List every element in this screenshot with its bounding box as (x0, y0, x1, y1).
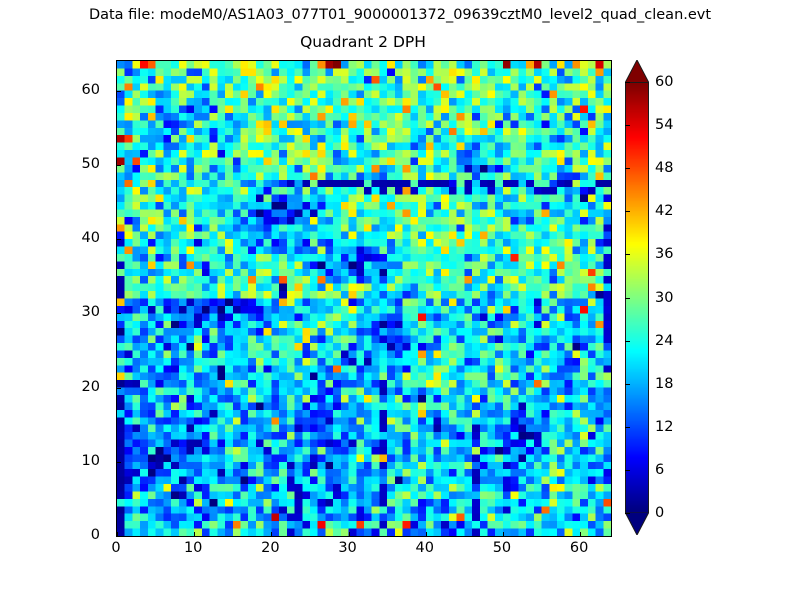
y-tick-label: 10 (82, 453, 100, 469)
colorbar-tick-label: 30 (655, 290, 673, 306)
colorbar-tick (625, 254, 630, 255)
colorbar-tick-label: 6 (655, 462, 664, 478)
colorbar-tick (625, 168, 630, 169)
x-tick-label: 10 (184, 540, 202, 556)
colorbar-tick (625, 513, 630, 514)
x-tick-label: 30 (338, 540, 356, 556)
x-tick-label: 0 (111, 540, 120, 556)
y-tick-label: 0 (91, 527, 100, 543)
colorbar-tick (625, 82, 630, 83)
colorbar-tick-label: 18 (655, 376, 673, 392)
colorbar-tick (625, 125, 630, 126)
colorbar-tick-label: 48 (655, 160, 673, 176)
colorbar-extend-min-arrow (625, 512, 649, 535)
y-axis-tick-labels: 0102030405060 (60, 60, 108, 535)
figure-canvas: Data file: modeM0/AS1A03_077T01_90000013… (0, 0, 800, 600)
colorbar-tick-label: 42 (655, 203, 673, 219)
colorbar-tick (625, 341, 630, 342)
y-tick-label: 40 (82, 230, 100, 246)
colorbar-tick-label: 24 (655, 333, 673, 349)
x-tick-label: 20 (261, 540, 279, 556)
colorbar-tick-label: 36 (655, 246, 673, 262)
y-tick-label: 50 (82, 156, 100, 172)
colorbar-tick (625, 211, 630, 212)
colorbar-tick-label: 0 (655, 505, 664, 521)
x-tick-label: 60 (570, 540, 588, 556)
x-axis-tick-labels: 0102030405060 (116, 0, 610, 600)
colorbar-tick (625, 427, 630, 428)
y-tick-label: 30 (82, 304, 100, 320)
colorbar-tick-label: 12 (655, 419, 673, 435)
colorbar-tick-label: 60 (655, 74, 673, 90)
colorbar-tick (625, 384, 630, 385)
x-tick-label: 40 (416, 540, 434, 556)
y-tick-label: 20 (82, 379, 100, 395)
colorbar-tick-label: 54 (655, 117, 673, 133)
y-tick-label: 60 (82, 82, 100, 98)
x-tick-label: 50 (493, 540, 511, 556)
colorbar-tick (625, 470, 630, 471)
colorbar[interactable]: 06121824303642485460 (625, 60, 649, 535)
colorbar-tick (625, 298, 630, 299)
colorbar-extend-max-arrow (625, 60, 649, 83)
